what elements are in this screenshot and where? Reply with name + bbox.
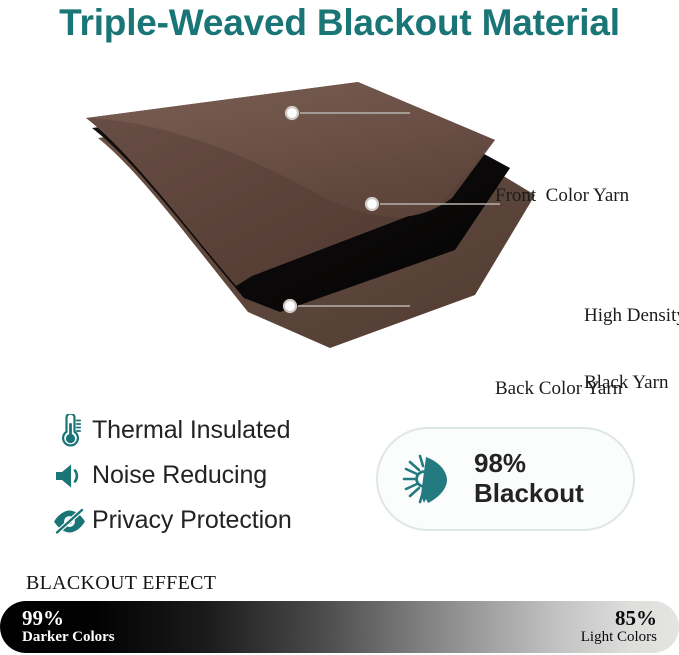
feature-item-noise-reducing: Noise Reducing bbox=[46, 453, 356, 498]
callout-label-front-color-yarn: Front Color Yarn bbox=[495, 185, 629, 207]
thermometer-icon bbox=[46, 414, 92, 448]
callout-dot-icon bbox=[284, 300, 296, 312]
feature-list: Thermal Insulated Noise Reducing Privacy… bbox=[46, 408, 356, 543]
speaker-sound-icon bbox=[46, 461, 92, 491]
callout-label-line-1: High Density bbox=[584, 305, 679, 327]
feature-label-thermal-insulated: Thermal Insulated bbox=[92, 416, 290, 445]
eye-slash-icon bbox=[46, 507, 92, 535]
callout-dot-icon bbox=[286, 107, 298, 119]
gradient-bar-right-stat: 85% Light Colors bbox=[581, 608, 657, 645]
feature-item-thermal-insulated: Thermal Insulated bbox=[46, 408, 356, 453]
darker-colors-percent: 99% bbox=[22, 608, 115, 630]
blackout-percent: 98% bbox=[474, 449, 584, 479]
sun-blocked-by-curtain-icon bbox=[378, 448, 474, 510]
blackout-label: Blackout bbox=[474, 479, 584, 509]
blackout-badge: 98% Blackout bbox=[376, 427, 635, 531]
light-colors-label: Light Colors bbox=[581, 630, 657, 646]
page-title: Triple-Weaved Blackout Material bbox=[0, 2, 679, 44]
callout-dot-icon bbox=[366, 198, 378, 210]
blackout-badge-text: 98% Blackout bbox=[474, 449, 584, 508]
blackout-effect-gradient-bar: 99% Darker Colors 85% Light Colors bbox=[0, 601, 679, 653]
callout-label-high-density-black-yarn: High Density Black Yarn bbox=[584, 260, 679, 439]
callout-label-back-color-yarn: Back Color Yarn bbox=[495, 378, 622, 400]
light-colors-percent: 85% bbox=[581, 608, 657, 630]
feature-item-privacy-protection: Privacy Protection bbox=[46, 498, 356, 543]
fabric-layers-diagram: Front Color Yarn High Density Black Yarn… bbox=[80, 80, 600, 350]
feature-label-privacy-protection: Privacy Protection bbox=[92, 506, 292, 535]
blackout-effect-heading: BLACKOUT EFFECT bbox=[26, 572, 216, 595]
darker-colors-label: Darker Colors bbox=[22, 630, 115, 646]
feature-label-noise-reducing: Noise Reducing bbox=[92, 461, 267, 490]
gradient-bar-left-stat: 99% Darker Colors bbox=[22, 608, 115, 645]
